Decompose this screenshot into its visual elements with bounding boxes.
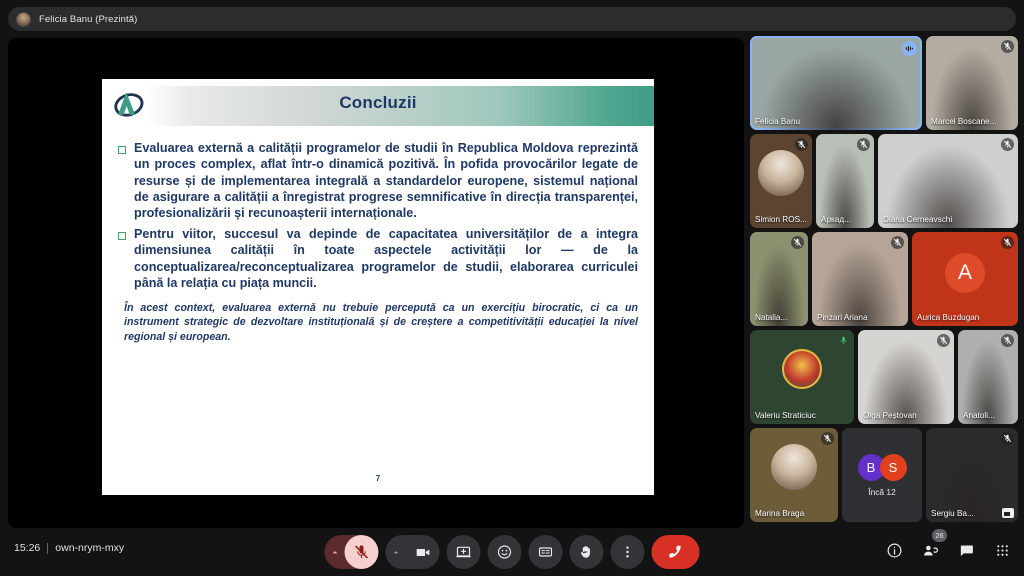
participant-name: Diana Cerneavschi bbox=[883, 215, 952, 224]
participant-tile[interactable]: Felicia Banu bbox=[750, 36, 922, 130]
participant-tile[interactable]: Anatoli... bbox=[958, 330, 1018, 424]
video-feed bbox=[750, 36, 922, 130]
avatar: A bbox=[945, 253, 985, 293]
mic-off-icon bbox=[891, 236, 904, 249]
mic-off-icon bbox=[821, 432, 834, 445]
participant-row: Marina BragaBSÎncă 12Sergiu Ba... bbox=[750, 428, 1018, 522]
camera-control-group[interactable] bbox=[386, 535, 440, 569]
leave-call-button[interactable] bbox=[652, 535, 700, 569]
bottom-bar: 15:26 own-nrym-mxy bbox=[0, 528, 1024, 576]
microphone-toggle[interactable] bbox=[345, 535, 379, 569]
participant-row: Felicia BanuMarcel Boscane... bbox=[750, 36, 1018, 130]
slide-title: Concluzii bbox=[339, 93, 416, 113]
audio-wave-icon bbox=[902, 41, 917, 56]
participant-tile[interactable]: Diana Cerneavschi bbox=[878, 134, 1018, 228]
meeting-info: 15:26 own-nrym-mxy bbox=[14, 542, 124, 554]
slide-bullet: Evaluarea externă a calității programelo… bbox=[118, 140, 638, 222]
mic-off-icon bbox=[1001, 40, 1014, 53]
mic-off-icon bbox=[1001, 432, 1014, 445]
microphone-control-group[interactable] bbox=[325, 535, 379, 569]
people-panel-button[interactable]: 26 bbox=[920, 540, 940, 560]
mic-off-icon bbox=[1001, 236, 1014, 249]
participant-name: Marcel Boscane... bbox=[931, 117, 997, 126]
pip-icon[interactable] bbox=[1002, 508, 1014, 518]
more-options-button[interactable] bbox=[611, 535, 645, 569]
chevron-up-icon[interactable] bbox=[325, 535, 345, 569]
google-meet-window: Felicia Banu (Prezintă) Concluzii Evalua… bbox=[0, 0, 1024, 576]
participant-row: Simion ROS...Аркад...Diana Cerneavschi bbox=[750, 134, 1018, 228]
mic-off-icon bbox=[795, 138, 808, 151]
video-feed bbox=[878, 134, 1018, 228]
slide: Concluzii Evaluarea externă a calității … bbox=[102, 79, 654, 495]
mic-off-icon bbox=[1001, 334, 1014, 347]
participant-row: Natalia...Pinzari ArianaAAurica Buzdugan bbox=[750, 232, 1018, 326]
participant-tile[interactable]: Simion ROS... bbox=[750, 134, 812, 228]
avatar bbox=[782, 349, 822, 389]
present-screen-button[interactable] bbox=[447, 535, 481, 569]
participant-tile[interactable]: BSÎncă 12 bbox=[842, 428, 922, 522]
slide-page-number: 7 bbox=[102, 474, 654, 483]
slide-bullet: Pentru viitor, succesul va depinde de ca… bbox=[118, 226, 638, 291]
participant-tile[interactable]: AAurica Buzdugan bbox=[912, 232, 1018, 326]
participant-name: Valeriu Straticiuc bbox=[755, 411, 816, 420]
activities-panel-button[interactable] bbox=[992, 540, 1012, 560]
participant-count-badge: 26 bbox=[932, 529, 947, 542]
raise-hand-button[interactable] bbox=[570, 535, 604, 569]
participant-name: Pinzari Ariana bbox=[817, 313, 868, 322]
mic-on-icon bbox=[837, 334, 850, 347]
slide-body: Evaluarea externă a calității programelo… bbox=[102, 126, 654, 291]
slide-bullet-text: Evaluarea externă a calității programelo… bbox=[134, 140, 638, 222]
captions-button[interactable] bbox=[529, 535, 563, 569]
bullet-square-icon bbox=[118, 232, 126, 240]
slide-bullet-text: Pentru viitor, succesul va depinde de ca… bbox=[134, 226, 638, 291]
participant-name: Anatoli... bbox=[963, 411, 995, 420]
avatar: S bbox=[880, 454, 907, 481]
participant-name: Felicia Banu bbox=[755, 117, 800, 126]
right-panel-icons: 26 bbox=[884, 540, 1012, 560]
slide-note: În acest context, evaluarea externă nu t… bbox=[124, 301, 638, 344]
mic-off-icon bbox=[791, 236, 804, 249]
chevron-up-icon[interactable] bbox=[386, 535, 406, 569]
reactions-button[interactable] bbox=[488, 535, 522, 569]
anacec-logo-icon bbox=[110, 87, 146, 121]
participant-name: Aurica Buzdugan bbox=[917, 313, 979, 322]
clock-label: 15:26 bbox=[14, 542, 40, 554]
divider bbox=[47, 543, 48, 554]
participant-name: Simion ROS... bbox=[755, 215, 807, 224]
mic-off-icon bbox=[937, 334, 950, 347]
participant-tile[interactable]: Sergiu Ba... bbox=[926, 428, 1018, 522]
participant-tile[interactable]: Olga Peștovan bbox=[858, 330, 954, 424]
bullet-square-icon bbox=[118, 146, 126, 154]
participant-name: Sergiu Ba... bbox=[931, 509, 974, 518]
camera-toggle[interactable] bbox=[406, 535, 440, 569]
participant-tile[interactable]: Pinzari Ariana bbox=[812, 232, 908, 326]
meeting-code-label[interactable]: own-nrym-mxy bbox=[55, 542, 124, 554]
participant-name: Natalia... bbox=[755, 313, 787, 322]
participant-rail[interactable]: Felicia BanuMarcel Boscane...Simion ROS.… bbox=[750, 36, 1018, 526]
participant-tile[interactable]: Natalia... bbox=[750, 232, 808, 326]
participant-name: Olga Peștovan bbox=[863, 411, 917, 420]
avatar bbox=[758, 150, 804, 196]
presentation-stage[interactable]: Concluzii Evaluarea externă a calității … bbox=[8, 38, 744, 528]
overflow-count-label: Încă 12 bbox=[868, 487, 895, 497]
avatar bbox=[771, 444, 817, 490]
chat-panel-button[interactable] bbox=[956, 540, 976, 560]
overflow-avatars: BS bbox=[858, 454, 907, 481]
participant-tile[interactable]: Marina Braga bbox=[750, 428, 838, 522]
participant-tile[interactable]: Valeriu Straticiuc bbox=[750, 330, 854, 424]
call-controls bbox=[325, 535, 700, 569]
mic-off-icon bbox=[857, 138, 870, 151]
slide-header: Concluzii bbox=[102, 79, 654, 126]
participant-tile[interactable]: Аркад... bbox=[816, 134, 874, 228]
participant-name: Аркад... bbox=[821, 215, 851, 224]
avatar bbox=[16, 12, 31, 27]
presenter-label: Felicia Banu (Prezintă) bbox=[39, 14, 137, 25]
presenter-bar[interactable]: Felicia Banu (Prezintă) bbox=[8, 7, 1016, 31]
participant-tile[interactable]: Marcel Boscane... bbox=[926, 36, 1018, 130]
mic-off-icon bbox=[1001, 138, 1014, 151]
meeting-details-button[interactable] bbox=[884, 540, 904, 560]
participant-row: Valeriu StraticiucOlga PeștovanAnatoli..… bbox=[750, 330, 1018, 424]
participant-name: Marina Braga bbox=[755, 509, 804, 518]
